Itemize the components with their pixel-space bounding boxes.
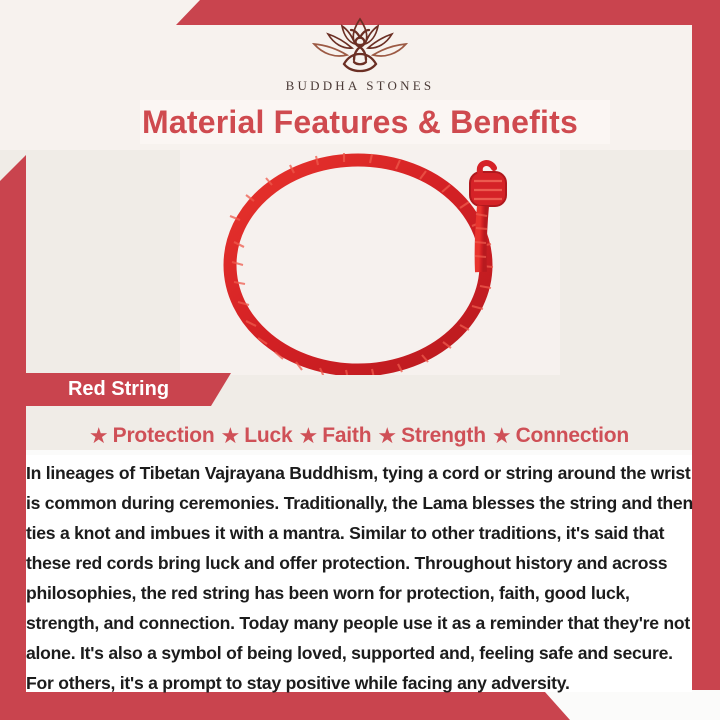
brand-name: BUDDHA STONES [0, 78, 720, 94]
benefit-item-strength: ★ Strength [377, 424, 485, 448]
benefit-item-connection: ★ Connection [492, 424, 629, 448]
red-string-bracelet-image [180, 150, 560, 375]
benefit-label: Faith [322, 424, 371, 448]
infographic-page: BUDDHA STONES Material Features & Benefi… [0, 0, 720, 720]
star-icon: ★ [221, 425, 241, 447]
description-text: In lineages of Tibetan Vajrayana Buddhis… [26, 458, 694, 698]
product-photo [180, 150, 560, 375]
product-name-label: Red String [26, 373, 211, 406]
benefits-row: ★ Protection ★ Luck ★ Faith ★ Strength ★… [26, 419, 692, 453]
star-icon: ★ [298, 425, 318, 447]
page-title: Material Features & Benefits [0, 98, 720, 146]
benefit-item-luck: ★ Luck [221, 424, 293, 448]
benefit-label: Strength [401, 424, 486, 448]
lotus-meditation-icon [304, 14, 416, 76]
benefit-label: Connection [516, 424, 630, 448]
frame-left-accent [0, 155, 26, 720]
product-name-tab: Red String [26, 373, 231, 406]
star-icon: ★ [492, 425, 512, 447]
benefit-label: Luck [244, 424, 292, 448]
benefit-item-faith: ★ Faith [298, 424, 371, 448]
brand-logo: BUDDHA STONES [0, 14, 720, 94]
benefit-label: Protection [113, 424, 215, 448]
benefit-item-protection: ★ Protection [89, 424, 215, 448]
star-icon: ★ [377, 425, 397, 447]
star-icon: ★ [89, 425, 109, 447]
